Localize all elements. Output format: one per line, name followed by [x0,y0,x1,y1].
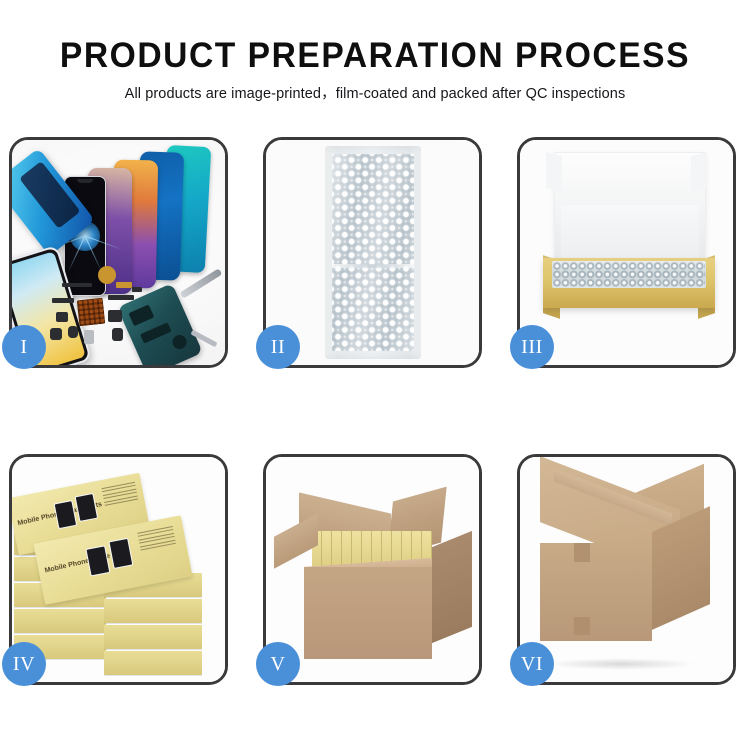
page-title: PRODUCT PREPARATION PROCESS [15,34,735,78]
step-3-image [520,140,733,365]
step-badge-3: III [510,325,554,369]
step-panel-5: V [263,454,482,685]
box-lid-white [554,152,706,266]
carton-tab-upper [574,543,590,562]
small-part [132,287,142,292]
stacked-box [14,609,106,633]
small-part [50,328,62,340]
board-chip [140,322,171,343]
phone-notch [77,179,93,183]
step-4-image: Mobile Phone Spare Parts Mobile Phone Sp… [12,457,225,682]
stacked-box [104,625,202,649]
step-panel-3: III [517,137,736,368]
step-panel-4: Mobile Phone Spare Parts Mobile Phone Sp… [9,454,228,685]
speaker-part [98,266,116,284]
board-chip [129,304,155,326]
step-2-image [266,140,479,365]
header: PRODUCT PREPARATION PROCESS All products… [0,34,750,103]
sim-tray-part [84,330,94,344]
box-window-image-2 [75,493,99,522]
plastic-sheen [332,154,414,351]
bubble-wrapped-item [552,261,706,288]
flex-cable-part [52,298,74,303]
step-badge-2: II [256,325,300,369]
infographic-page: PRODUCT PREPARATION PROCESS All products… [0,0,750,750]
stacked-box [104,599,202,623]
step-1-image [12,140,225,365]
box-window-image-3 [85,545,110,576]
small-part [56,312,68,322]
carton-right-side [432,531,472,643]
step-badge-6: VI [510,642,554,686]
box-window-image-4 [108,538,133,569]
bubble-pattern [553,262,705,287]
step-panel-6: VI [517,454,736,685]
page-subtitle: All products are image-printed，film-coat… [0,85,750,103]
carton-shadow [546,658,696,670]
step-badge-5: V [256,642,300,686]
flex-cable-part [62,283,92,287]
small-part [112,328,123,341]
connector-part [116,282,132,288]
small-part [108,310,122,322]
lid-flap-left [546,152,562,193]
bubble-wrap-pouch [325,146,421,359]
camera-module [170,333,188,351]
box-spec-lines-1 [101,482,138,508]
carton-front-face [304,567,432,659]
ic-grid-chip [77,298,106,327]
step-6-image [520,457,733,682]
step-5-image [266,457,479,682]
step-panel-1: I [9,137,228,368]
step-panel-2: II [263,137,482,368]
box-stack: Mobile Phone Spare Parts Mobile Phone Sp… [12,457,225,682]
box-spec-lines-2 [137,526,176,553]
small-part [68,326,78,338]
process-steps-grid: I II [9,137,744,685]
carton-tab-lower [574,617,590,635]
stacked-box [104,651,202,675]
step-badge-4: IV [2,642,46,686]
flex-cable-part [108,295,134,300]
carton-front-face [540,543,652,641]
step-badge-1: I [2,325,46,369]
wrap-seam [332,264,414,268]
box-window-image-1 [54,500,78,529]
lid-flap-right [691,152,707,193]
